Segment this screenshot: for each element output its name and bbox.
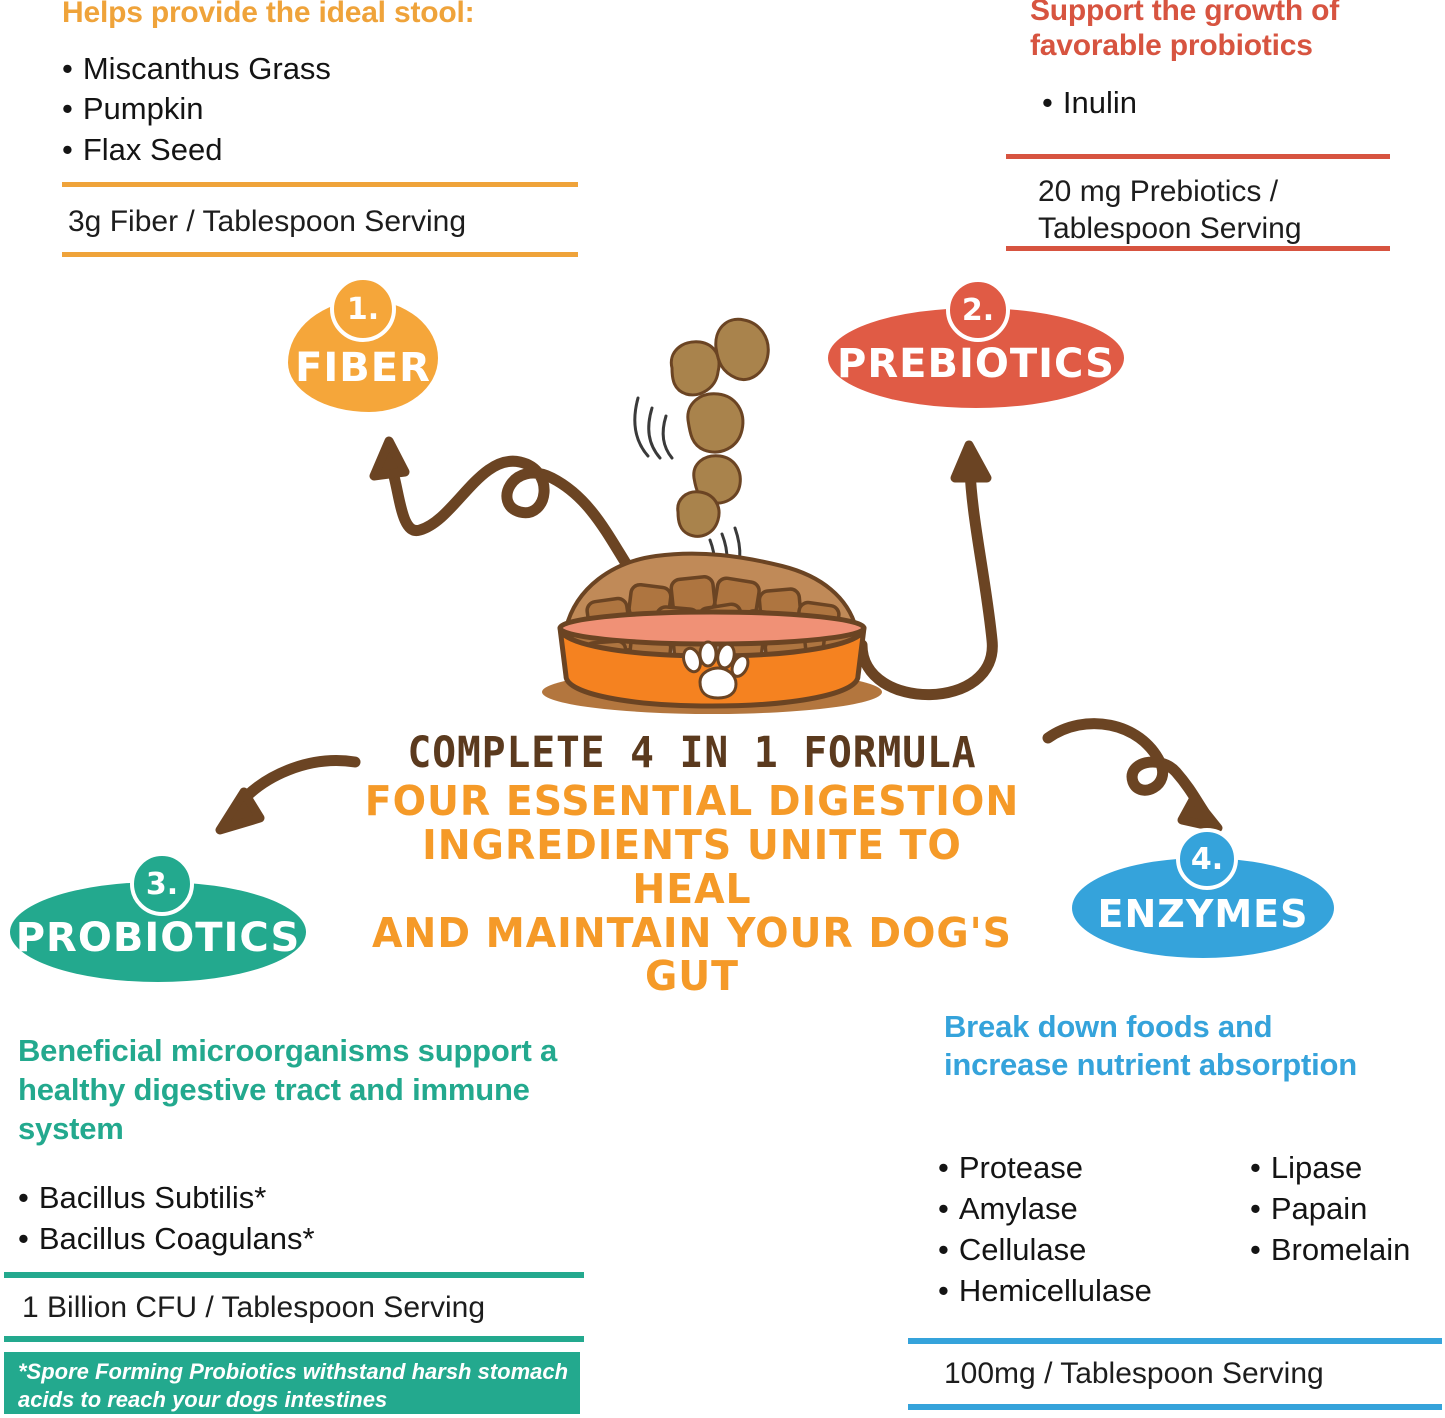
badge-probiotics-label: PROBIOTICS <box>16 915 301 961</box>
badge-probiotics-number: 3. <box>130 852 194 916</box>
list-item: •Hemicellulase <box>938 1271 1250 1312</box>
formula-subtitle: FOUR ESSENTIAL DIGESTION INGREDIENTS UNI… <box>356 780 1028 999</box>
list-item: •Inulin <box>1042 83 1430 124</box>
list-item: •Protease <box>938 1148 1250 1189</box>
bullet-icon: • <box>62 132 73 167</box>
list-item-label: Papain <box>1271 1191 1368 1226</box>
list-item-label: Hemicellulase <box>959 1273 1152 1308</box>
bullet-icon: • <box>1250 1191 1261 1226</box>
prebiotics-info-panel: Support the growth of favorable probioti… <box>1030 0 1430 124</box>
formula-title: COMPLETE 4 IN 1 FORMULA <box>370 728 1014 778</box>
bullet-icon: • <box>62 51 73 86</box>
bullet-icon: • <box>938 1191 949 1226</box>
falling-kibble-icon <box>671 319 768 536</box>
enzymes-divider-top <box>908 1338 1442 1344</box>
bullet-icon: • <box>938 1273 949 1308</box>
list-item-label: Amylase <box>959 1191 1078 1226</box>
arrow-to-fiber-icon <box>374 441 640 585</box>
list-item: •Bacillus Subtilis* <box>18 1178 578 1219</box>
prebiotics-serving-text: 20 mg Prebiotics / Tablespoon Serving <box>1032 166 1440 255</box>
arrow-to-prebiotics-icon <box>862 445 992 695</box>
formula-subtitle-line: FOUR ESSENTIAL DIGESTION <box>356 780 1028 824</box>
probiotics-heading: Beneficial microorganisms support a heal… <box>18 1032 578 1148</box>
bullet-icon: • <box>62 91 73 126</box>
badge-probiotics: PROBIOTICS 3. <box>10 852 310 987</box>
enzymes-ingredient-list-left: •Protease •Amylase •Cellulase •Hemicellu… <box>938 1148 1250 1312</box>
prebiotics-ingredient-list: •Inulin <box>1042 83 1430 124</box>
formula-subtitle-line: INGREDIENTS UNITE TO HEAL <box>356 824 1028 912</box>
bullet-icon: • <box>18 1221 29 1256</box>
enzymes-ingredient-list-right: •Lipase •Papain •Bromelain <box>1250 1148 1440 1312</box>
formula-subtitle-line: AND MAINTAIN YOUR DOG'S GUT <box>356 912 1028 1000</box>
paw-print-icon <box>681 642 751 698</box>
dog-bowl-icon <box>560 612 864 706</box>
list-item: •Bacillus Coagulans* <box>18 1219 578 1260</box>
list-item: •Pumpkin <box>62 89 582 130</box>
badge-prebiotics: PREBIOTICS 2. <box>828 278 1128 413</box>
fiber-info-panel: Helps provide the ideal stool: •Miscanth… <box>62 0 582 171</box>
list-item-label: Inulin <box>1063 85 1137 120</box>
enzymes-info-panel: Break down foods and increase nutrient a… <box>944 1008 1404 1084</box>
bowl-kibble-icon <box>566 554 862 674</box>
bullet-icon: • <box>938 1150 949 1185</box>
list-item-label: Miscanthus Grass <box>83 51 331 86</box>
prebiotics-divider-top <box>1006 154 1390 159</box>
enzymes-divider-bottom <box>908 1404 1442 1410</box>
badge-fiber: FIBER 1. <box>278 278 448 413</box>
badge-enzymes-label: ENZYMES <box>1098 892 1309 936</box>
list-item-label: Protease <box>959 1150 1083 1185</box>
list-item: •Lipase <box>1250 1148 1440 1189</box>
probiotics-divider-top <box>4 1272 584 1278</box>
prebiotics-divider-bottom <box>1006 246 1390 251</box>
enzymes-ingredient-columns: •Protease •Amylase •Cellulase •Hemicellu… <box>938 1148 1443 1312</box>
probiotics-divider-bottom <box>4 1336 584 1342</box>
infographic-root: Helps provide the ideal stool: •Miscanth… <box>0 0 1445 1418</box>
badge-enzymes: ENZYMES 4. <box>1072 828 1338 963</box>
probiotics-info-panel: Beneficial microorganisms support a heal… <box>18 1032 578 1260</box>
badge-fiber-number: 1. <box>330 276 396 342</box>
list-item: •Cellulase <box>938 1230 1250 1271</box>
list-item: •Miscanthus Grass <box>62 49 582 90</box>
arrow-to-enzymes-icon <box>1048 724 1218 828</box>
list-item-label: Lipase <box>1271 1150 1362 1185</box>
fiber-serving-text: 3g Fiber / Tablespoon Serving <box>62 196 590 249</box>
bowl-shadow <box>542 670 882 714</box>
probiotics-ingredient-list: •Bacillus Subtilis* •Bacillus Coagulans* <box>18 1178 578 1260</box>
bullet-icon: • <box>1250 1232 1261 1267</box>
enzymes-serving-text: 100mg / Tablespoon Serving <box>938 1348 1445 1401</box>
bullet-icon: • <box>1250 1150 1261 1185</box>
fiber-divider-top <box>62 182 578 187</box>
bullet-icon: • <box>938 1232 949 1267</box>
fiber-ingredient-list: •Miscanthus Grass •Pumpkin •Flax Seed <box>62 49 582 172</box>
probiotics-footnote: *Spore Forming Probiotics withstand hars… <box>4 1352 580 1414</box>
fiber-divider-bottom <box>62 252 578 257</box>
fiber-heading: Helps provide the ideal stool: <box>62 0 582 31</box>
prebiotics-heading: Support the growth of favorable probioti… <box>1030 0 1430 63</box>
list-item: •Papain <box>1250 1189 1440 1230</box>
list-item: •Flax Seed <box>62 130 582 171</box>
list-item-label: Pumpkin <box>83 91 204 126</box>
list-item-label: Flax Seed <box>83 132 223 167</box>
enzymes-heading: Break down foods and increase nutrient a… <box>944 1008 1404 1084</box>
badge-enzymes-number: 4. <box>1176 828 1238 890</box>
badge-prebiotics-label: PREBIOTICS <box>837 341 1115 387</box>
bullet-icon: • <box>1042 85 1053 120</box>
list-item-label: Bromelain <box>1271 1232 1411 1267</box>
badge-prebiotics-number: 2. <box>946 278 1010 342</box>
list-item-label: Bacillus Coagulans* <box>39 1221 315 1256</box>
list-item-label: Cellulase <box>959 1232 1087 1267</box>
list-item-label: Bacillus Subtilis* <box>39 1180 266 1215</box>
bullet-icon: • <box>18 1180 29 1215</box>
formula-block: COMPLETE 4 IN 1 FORMULA FOUR ESSENTIAL D… <box>342 728 1042 999</box>
list-item: •Bromelain <box>1250 1230 1440 1271</box>
motion-lines-icon <box>635 398 740 582</box>
list-item: •Amylase <box>938 1189 1250 1230</box>
badge-fiber-label: FIBER <box>295 345 431 391</box>
probiotics-serving-text: 1 Billion CFU / Tablespoon Serving <box>16 1282 604 1335</box>
arrow-to-probiotics-icon <box>220 761 355 830</box>
